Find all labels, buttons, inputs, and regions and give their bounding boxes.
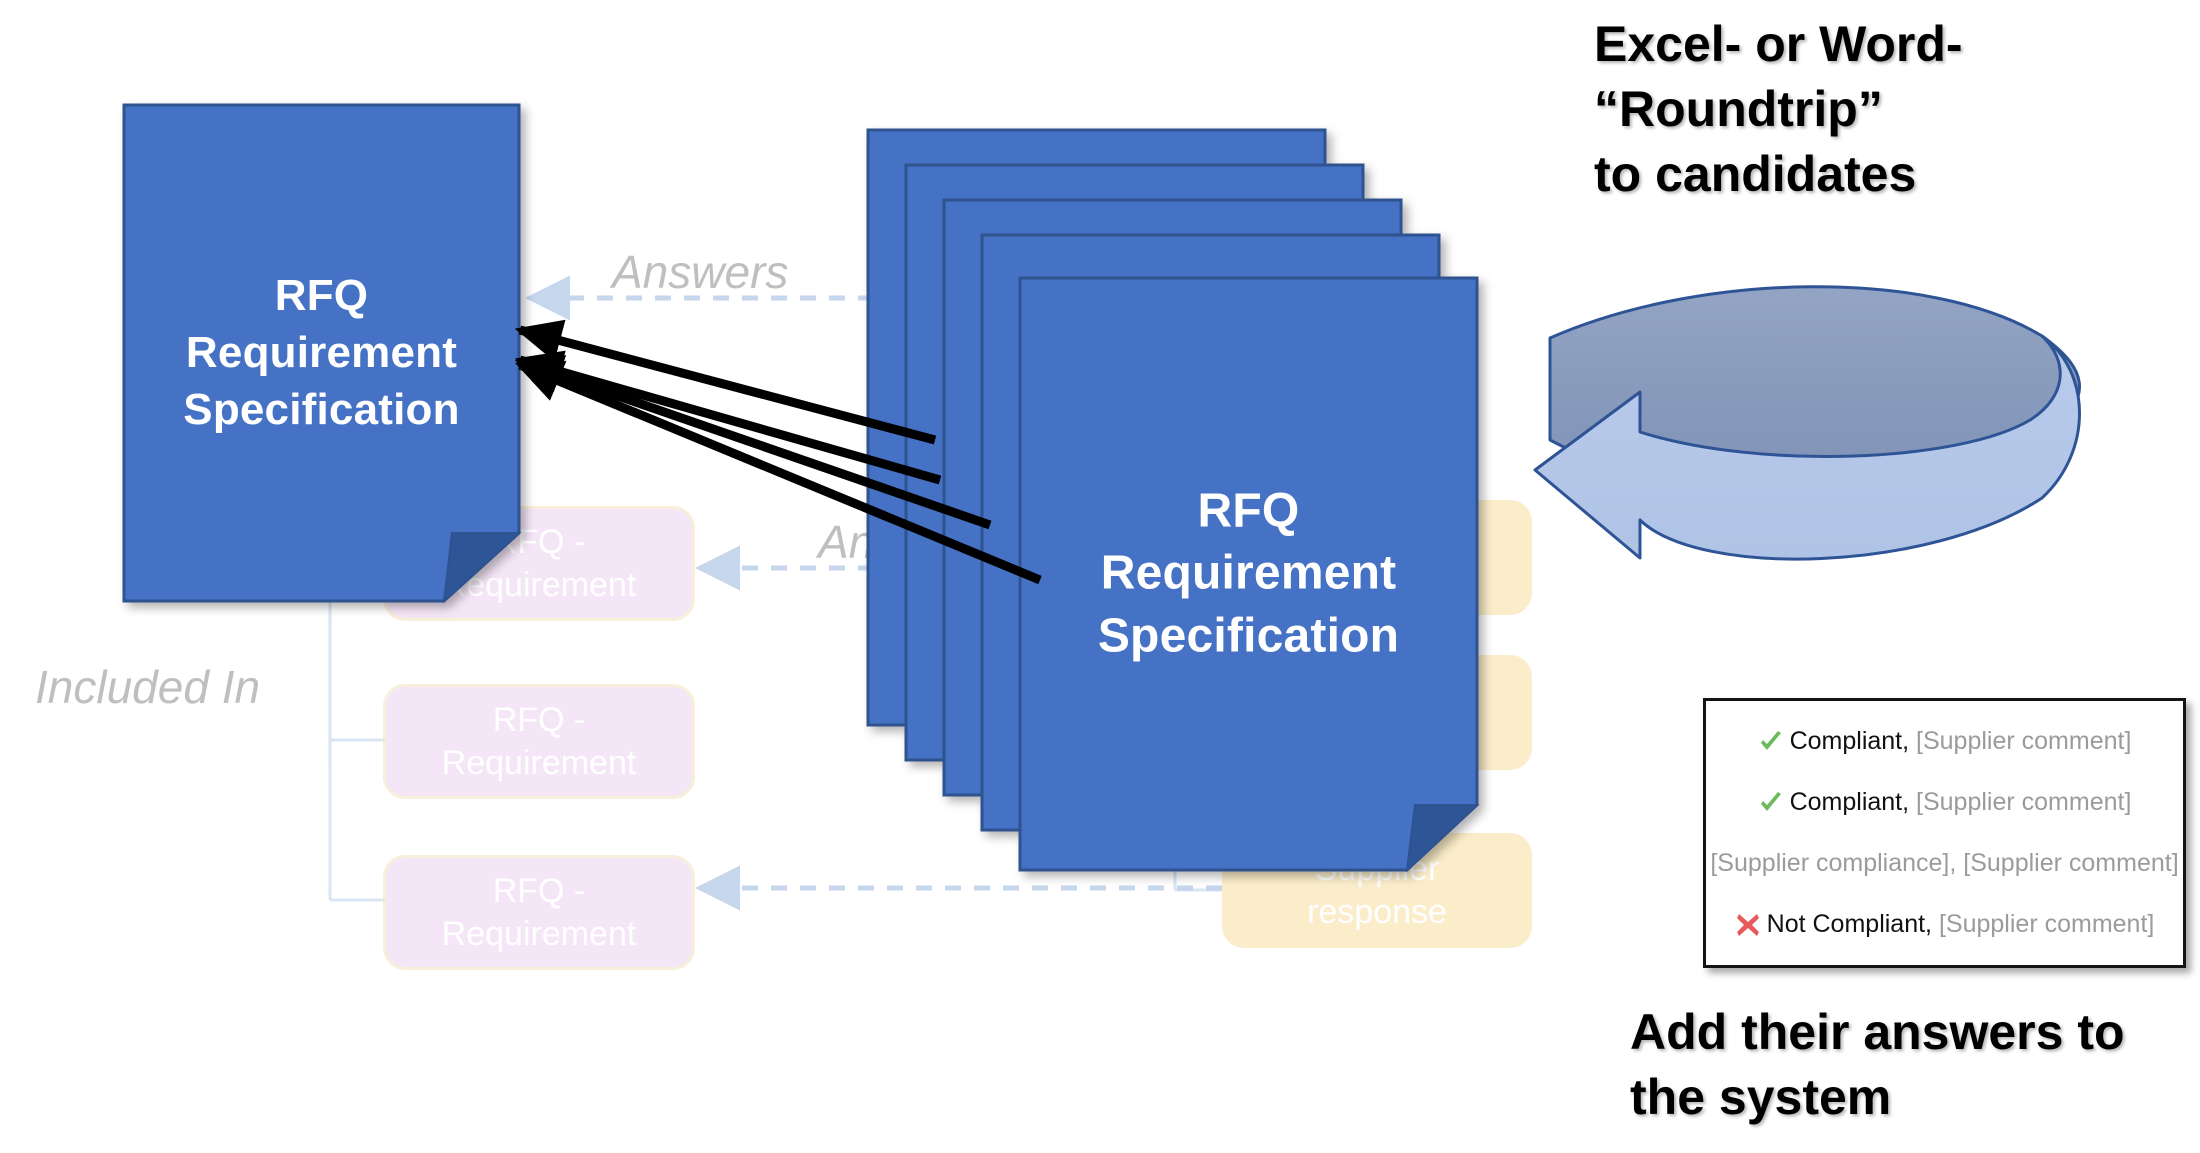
legend-row: Not Compliant, [Supplier comment] [1720, 910, 2169, 939]
legend-row: Compliant, [Supplier comment] [1720, 727, 2169, 756]
legend-status: Not Compliant, [1767, 910, 1932, 939]
legend-comment: [Supplier comment] [1939, 910, 2154, 939]
legend-status: Compliant, [1790, 727, 1910, 756]
compliance-legend: Compliant, [Supplier comment] Compliant,… [1703, 698, 2186, 968]
check-icon [1758, 790, 1784, 816]
check-icon [1758, 729, 1784, 755]
legend-status: [Supplier compliance], [1710, 849, 1956, 878]
legend-comment: [Supplier comment] [1916, 788, 2131, 817]
legend-row: [Supplier compliance], [Supplier comment… [1720, 849, 2169, 878]
legend-row: Compliant, [Supplier comment] [1720, 788, 2169, 817]
legend-comment: [Supplier comment] [1963, 849, 2178, 878]
legend-status: Compliant, [1790, 788, 1910, 817]
bottom-right-heading: Add their answers to the system [1630, 1000, 2125, 1130]
cross-icon [1735, 912, 1761, 938]
top-right-heading: Excel- or Word- “Roundtrip” to candidate… [1594, 12, 1963, 207]
diagram-canvas: RFQ - Requirement RFQ - Requirement RFQ … [0, 0, 2200, 1153]
legend-comment: [Supplier comment] [1916, 727, 2131, 756]
